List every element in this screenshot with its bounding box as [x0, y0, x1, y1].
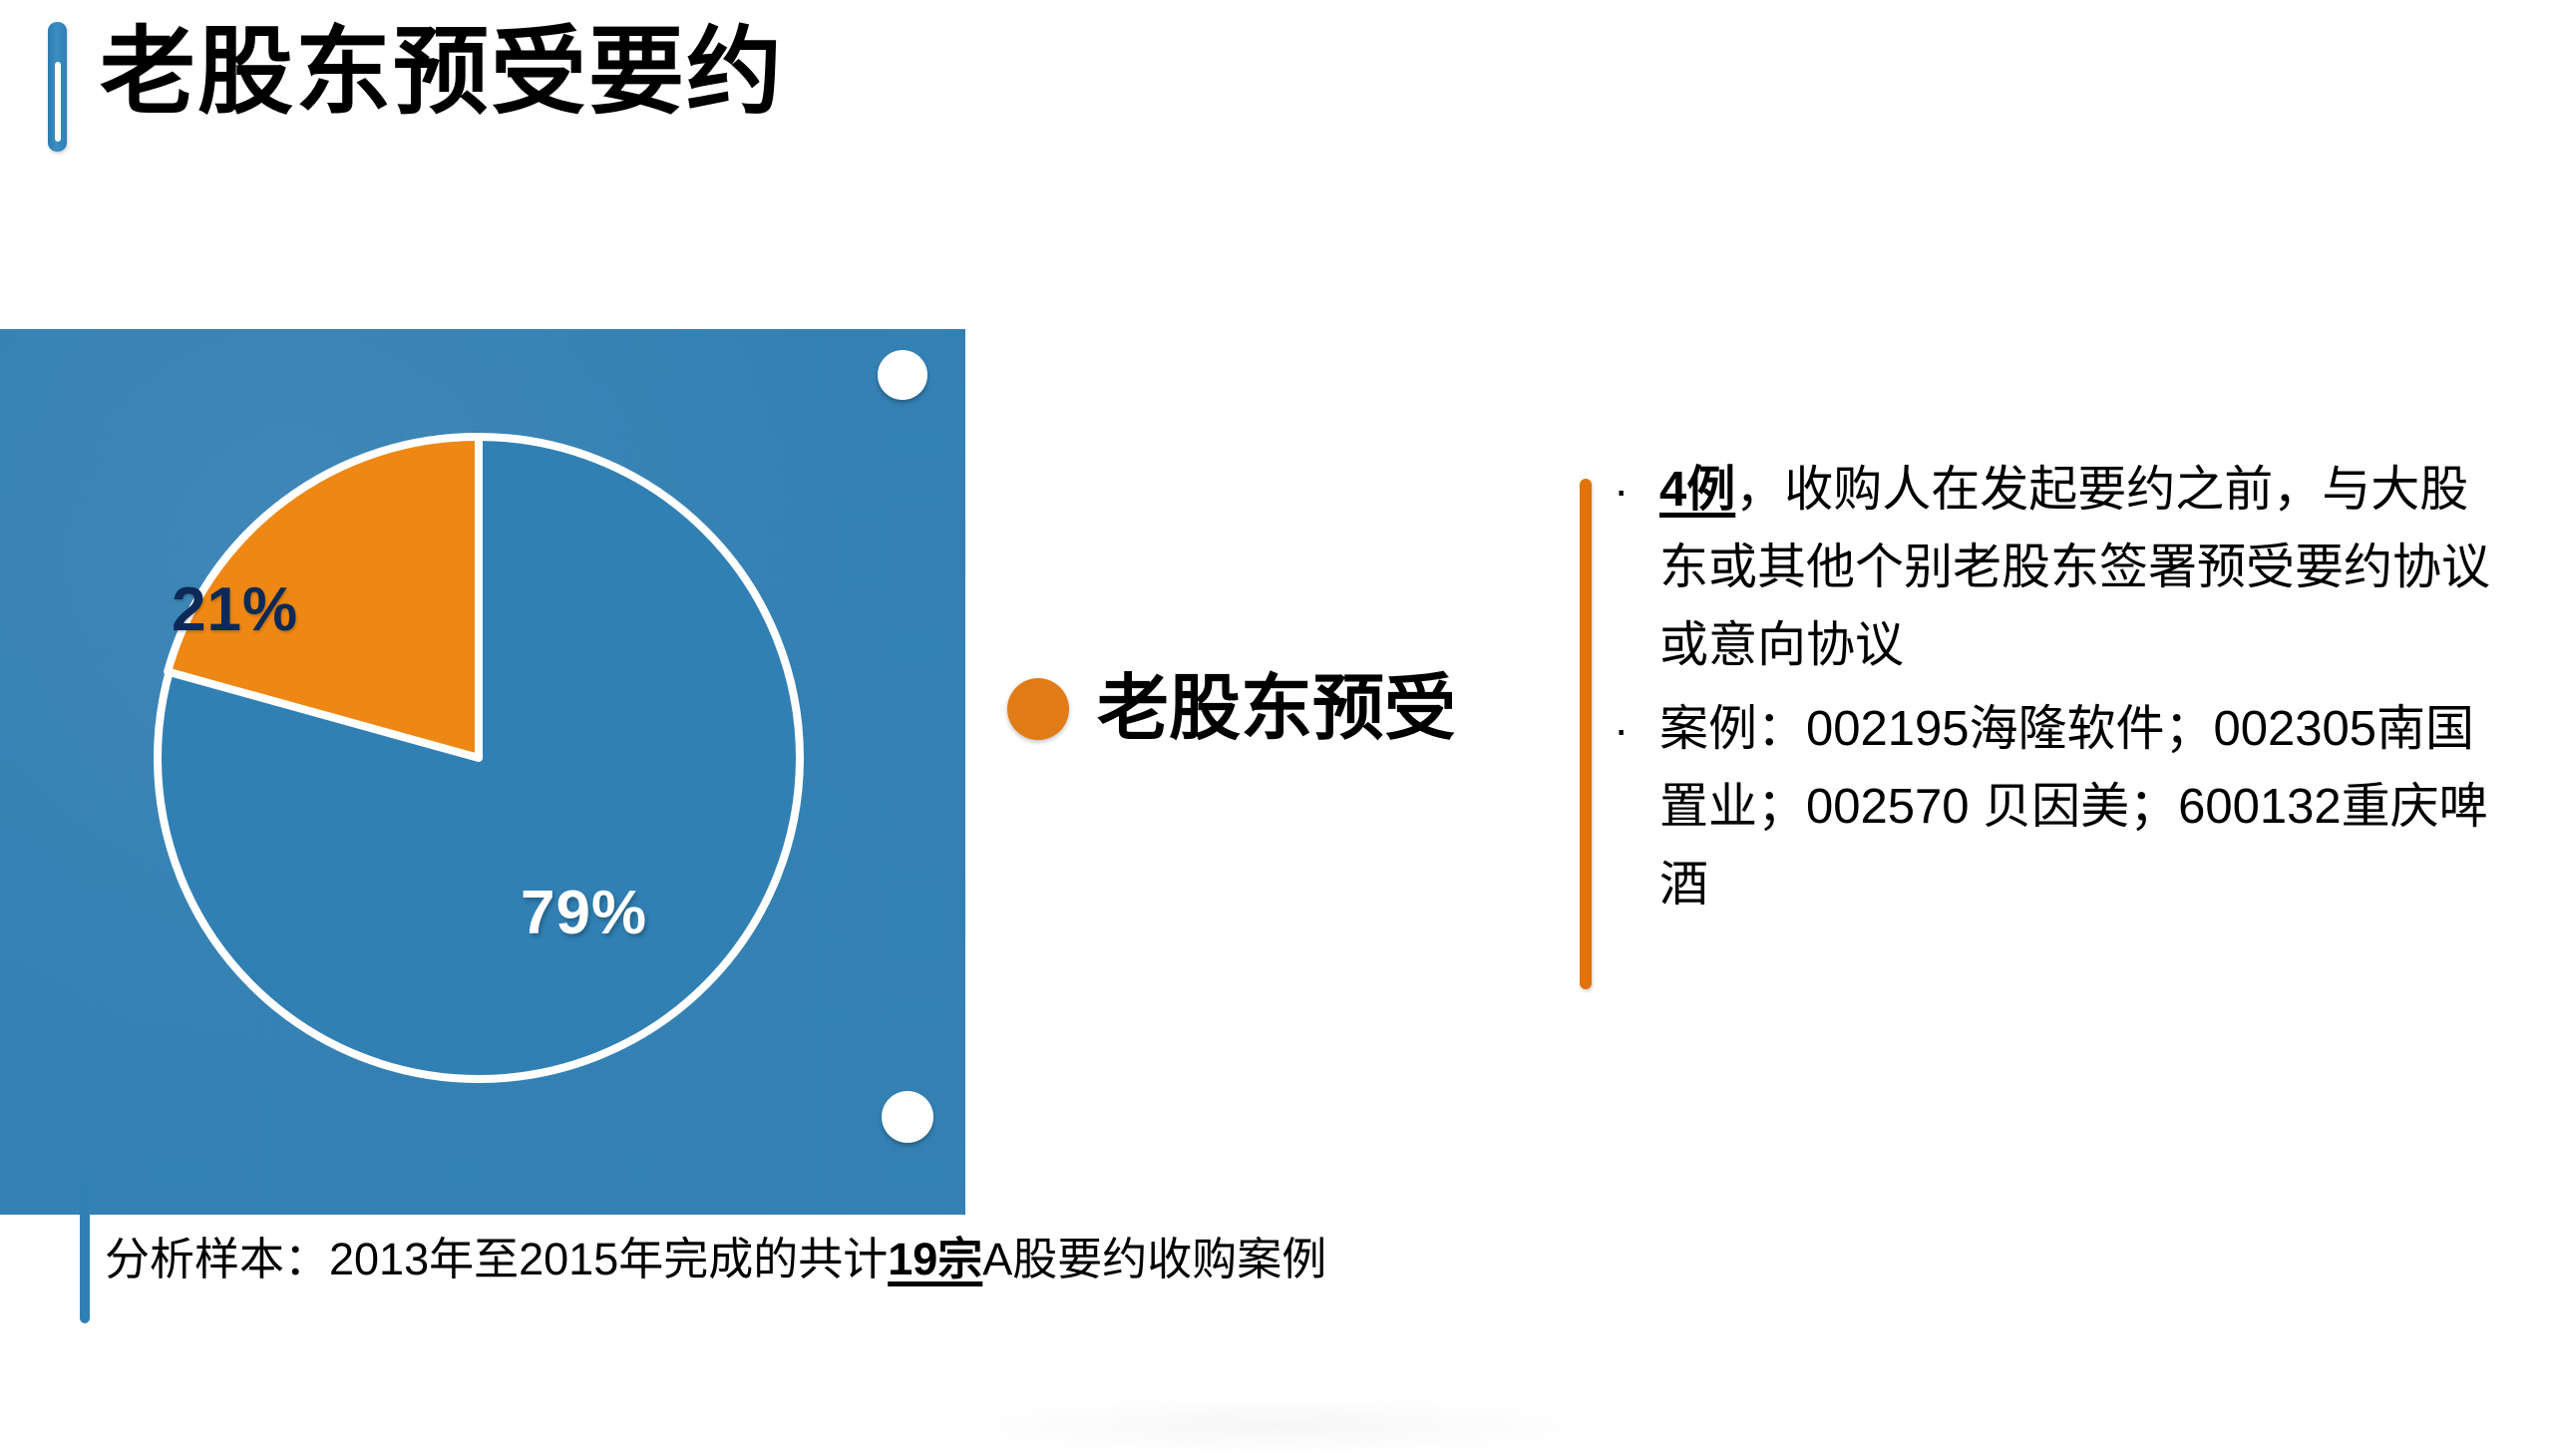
title-accent-bar: [48, 22, 67, 152]
pie-chart-svg: [152, 431, 806, 1085]
footer-note: 分析样本：2013年至2015年完成的共计19宗A股要约收购案例: [105, 1233, 1326, 1286]
decorative-dot-bottom-icon: [882, 1091, 933, 1143]
legend-label: 老股东预受: [1097, 673, 1456, 745]
bullet-rest: 案例：002195海隆软件；002305南国置业；002570 贝因美；6001…: [1659, 702, 2488, 911]
pie-label-21: 21%: [172, 574, 298, 645]
list-item: · 4例，收购人在发起要约之前，与大股东或其他个别老股东签署预受要约协议或意向协…: [1606, 451, 2508, 684]
bullet-marker-icon: ·: [1606, 451, 1659, 529]
bullet-marker-icon: ·: [1606, 690, 1659, 768]
slide-bottom-shadow: [937, 1396, 1616, 1456]
footer-accent-bar: [80, 1182, 90, 1323]
bullet-text: 4例，收购人在发起要约之前，与大股东或其他个别老股东签署预受要约协议或意向协议: [1659, 451, 2508, 684]
bullets-accent-bar: [1580, 479, 1592, 989]
slide: 老股东预受要约 21% 79% 老股东预受 · 4例，收购人在发起要约之前，与大…: [0, 0, 2553, 1436]
page-title: 老股东预受要约: [100, 18, 784, 128]
footer-emphasis: 19宗: [888, 1234, 982, 1284]
bullet-list: · 4例，收购人在发起要约之前，与大股东或其他个别老股东签署预受要约协议或意向协…: [1606, 451, 2508, 929]
bullet-text: 案例：002195海隆软件；002305南国置业；002570 贝因美；6001…: [1659, 690, 2508, 923]
footer-prefix: 分析样本：2013年至2015年完成的共计: [105, 1234, 888, 1284]
list-item: · 案例：002195海隆软件；002305南国置业；002570 贝因美；60…: [1606, 690, 2508, 923]
pie-chart: [152, 431, 806, 1085]
footer-suffix: A股要约收购案例: [982, 1234, 1326, 1284]
pie-label-79: 79%: [521, 878, 647, 948]
decorative-dot-top-icon: [878, 350, 927, 400]
bullet-rest: ，收购人在发起要约之前，与大股东或其他个别老股东签署预受要约协议或意向协议: [1659, 463, 2490, 672]
legend-circle-icon: [1007, 678, 1069, 740]
chart-legend: 老股东预受: [1007, 673, 1456, 745]
bullet-emphasis: 4例: [1659, 463, 1735, 517]
